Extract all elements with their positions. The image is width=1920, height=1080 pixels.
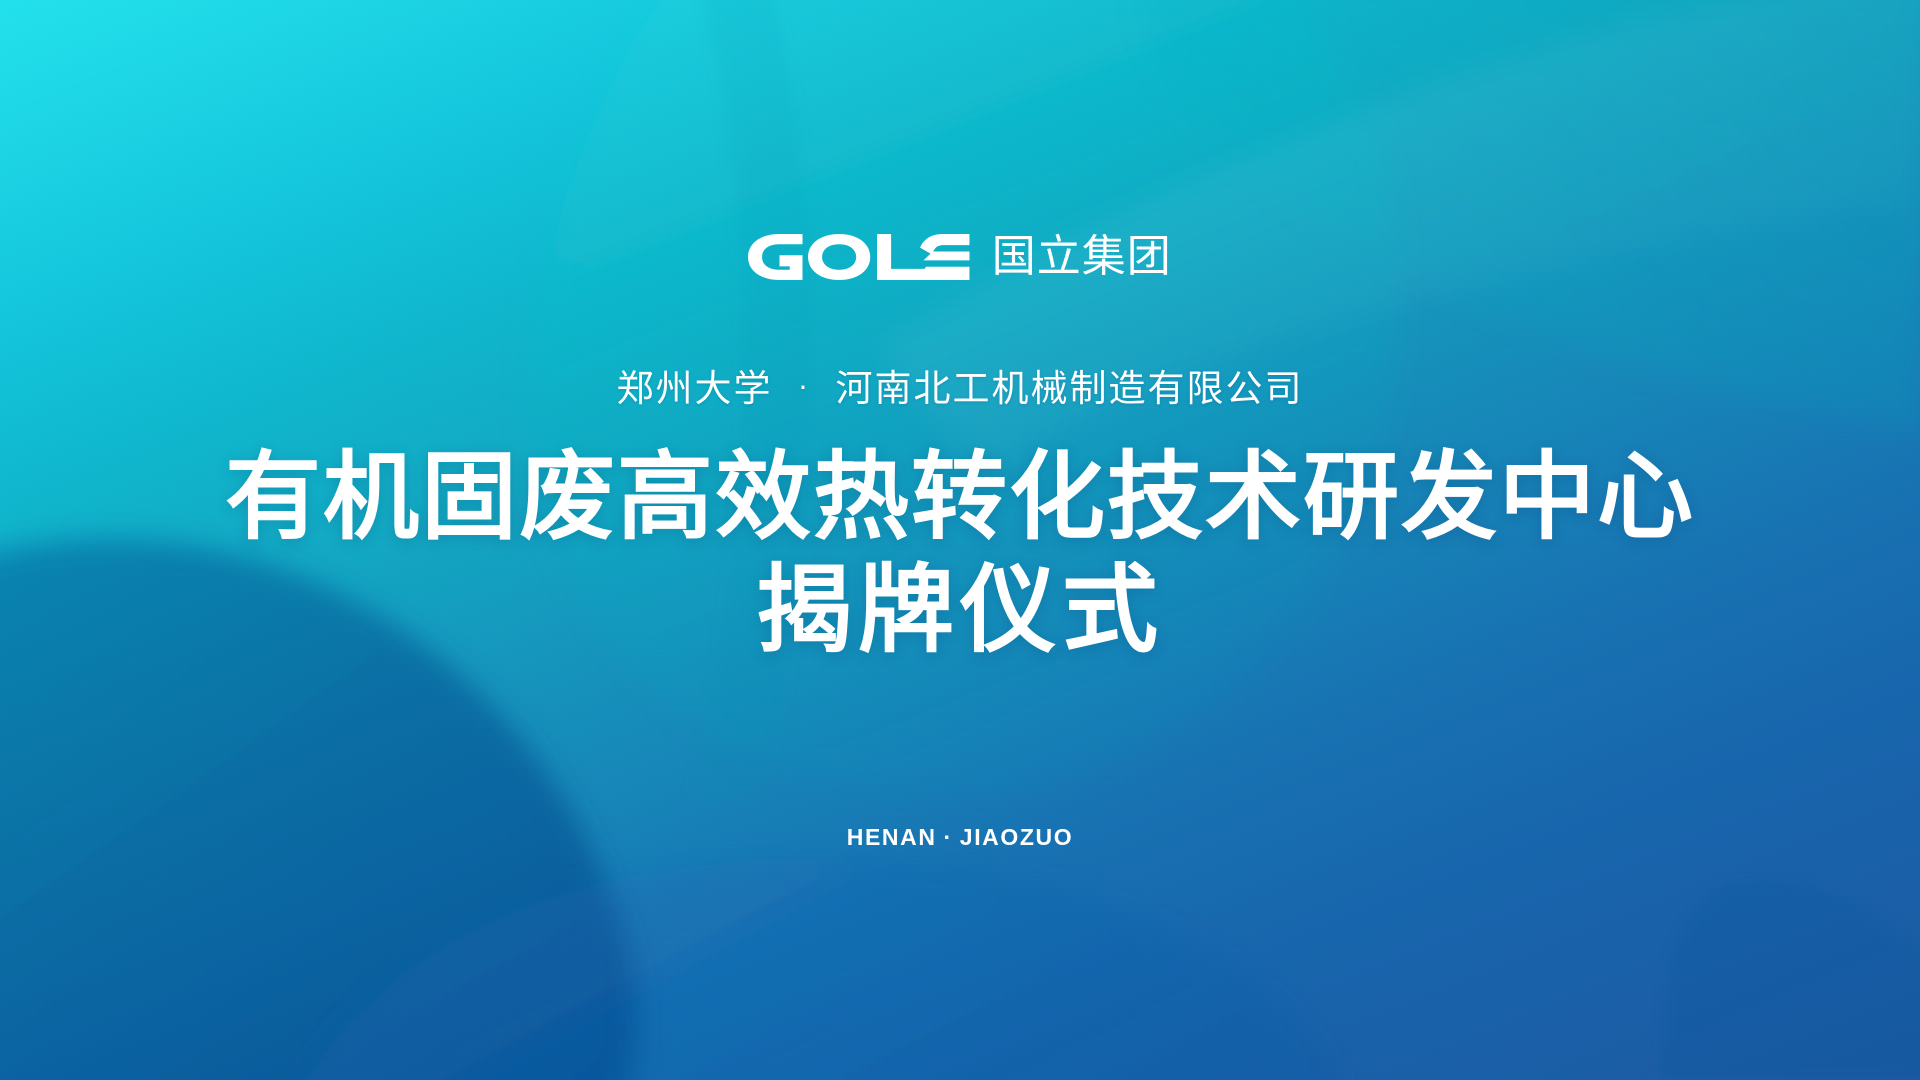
location-city: JIAOZUO bbox=[960, 824, 1073, 850]
brand-logo-chinese-name: 国立集团 bbox=[992, 234, 1172, 280]
slide-canvas: 国立集团 郑州大学·河南北工机械制造有限公司 有机固废高效热转化技术研发中心 揭… bbox=[0, 0, 1920, 1080]
location-province: HENAN bbox=[847, 824, 937, 850]
event-title-line-2: 揭牌仪式 bbox=[225, 554, 1695, 667]
event-title-line-1: 有机固废高效热转化技术研发中心 bbox=[225, 441, 1695, 554]
brand-logo-lockup: 国立集团 bbox=[748, 230, 1171, 284]
location-line: HENAN·JIAOZUO bbox=[847, 824, 1073, 851]
gole-wordmark-logo-icon bbox=[748, 234, 969, 280]
organizations-line: 郑州大学·河南北工机械制造有限公司 bbox=[617, 370, 1304, 407]
event-title: 有机固废高效热转化技术研发中心 揭牌仪式 bbox=[225, 441, 1695, 668]
slide-content: 国立集团 郑州大学·河南北工机械制造有限公司 有机固废高效热转化技术研发中心 揭… bbox=[0, 0, 1920, 1080]
organizations-separator: · bbox=[773, 371, 836, 404]
organization-secondary: 河南北工机械制造有限公司 bbox=[835, 367, 1303, 410]
organization-primary: 郑州大学 bbox=[617, 367, 773, 410]
location-separator: · bbox=[937, 824, 960, 850]
